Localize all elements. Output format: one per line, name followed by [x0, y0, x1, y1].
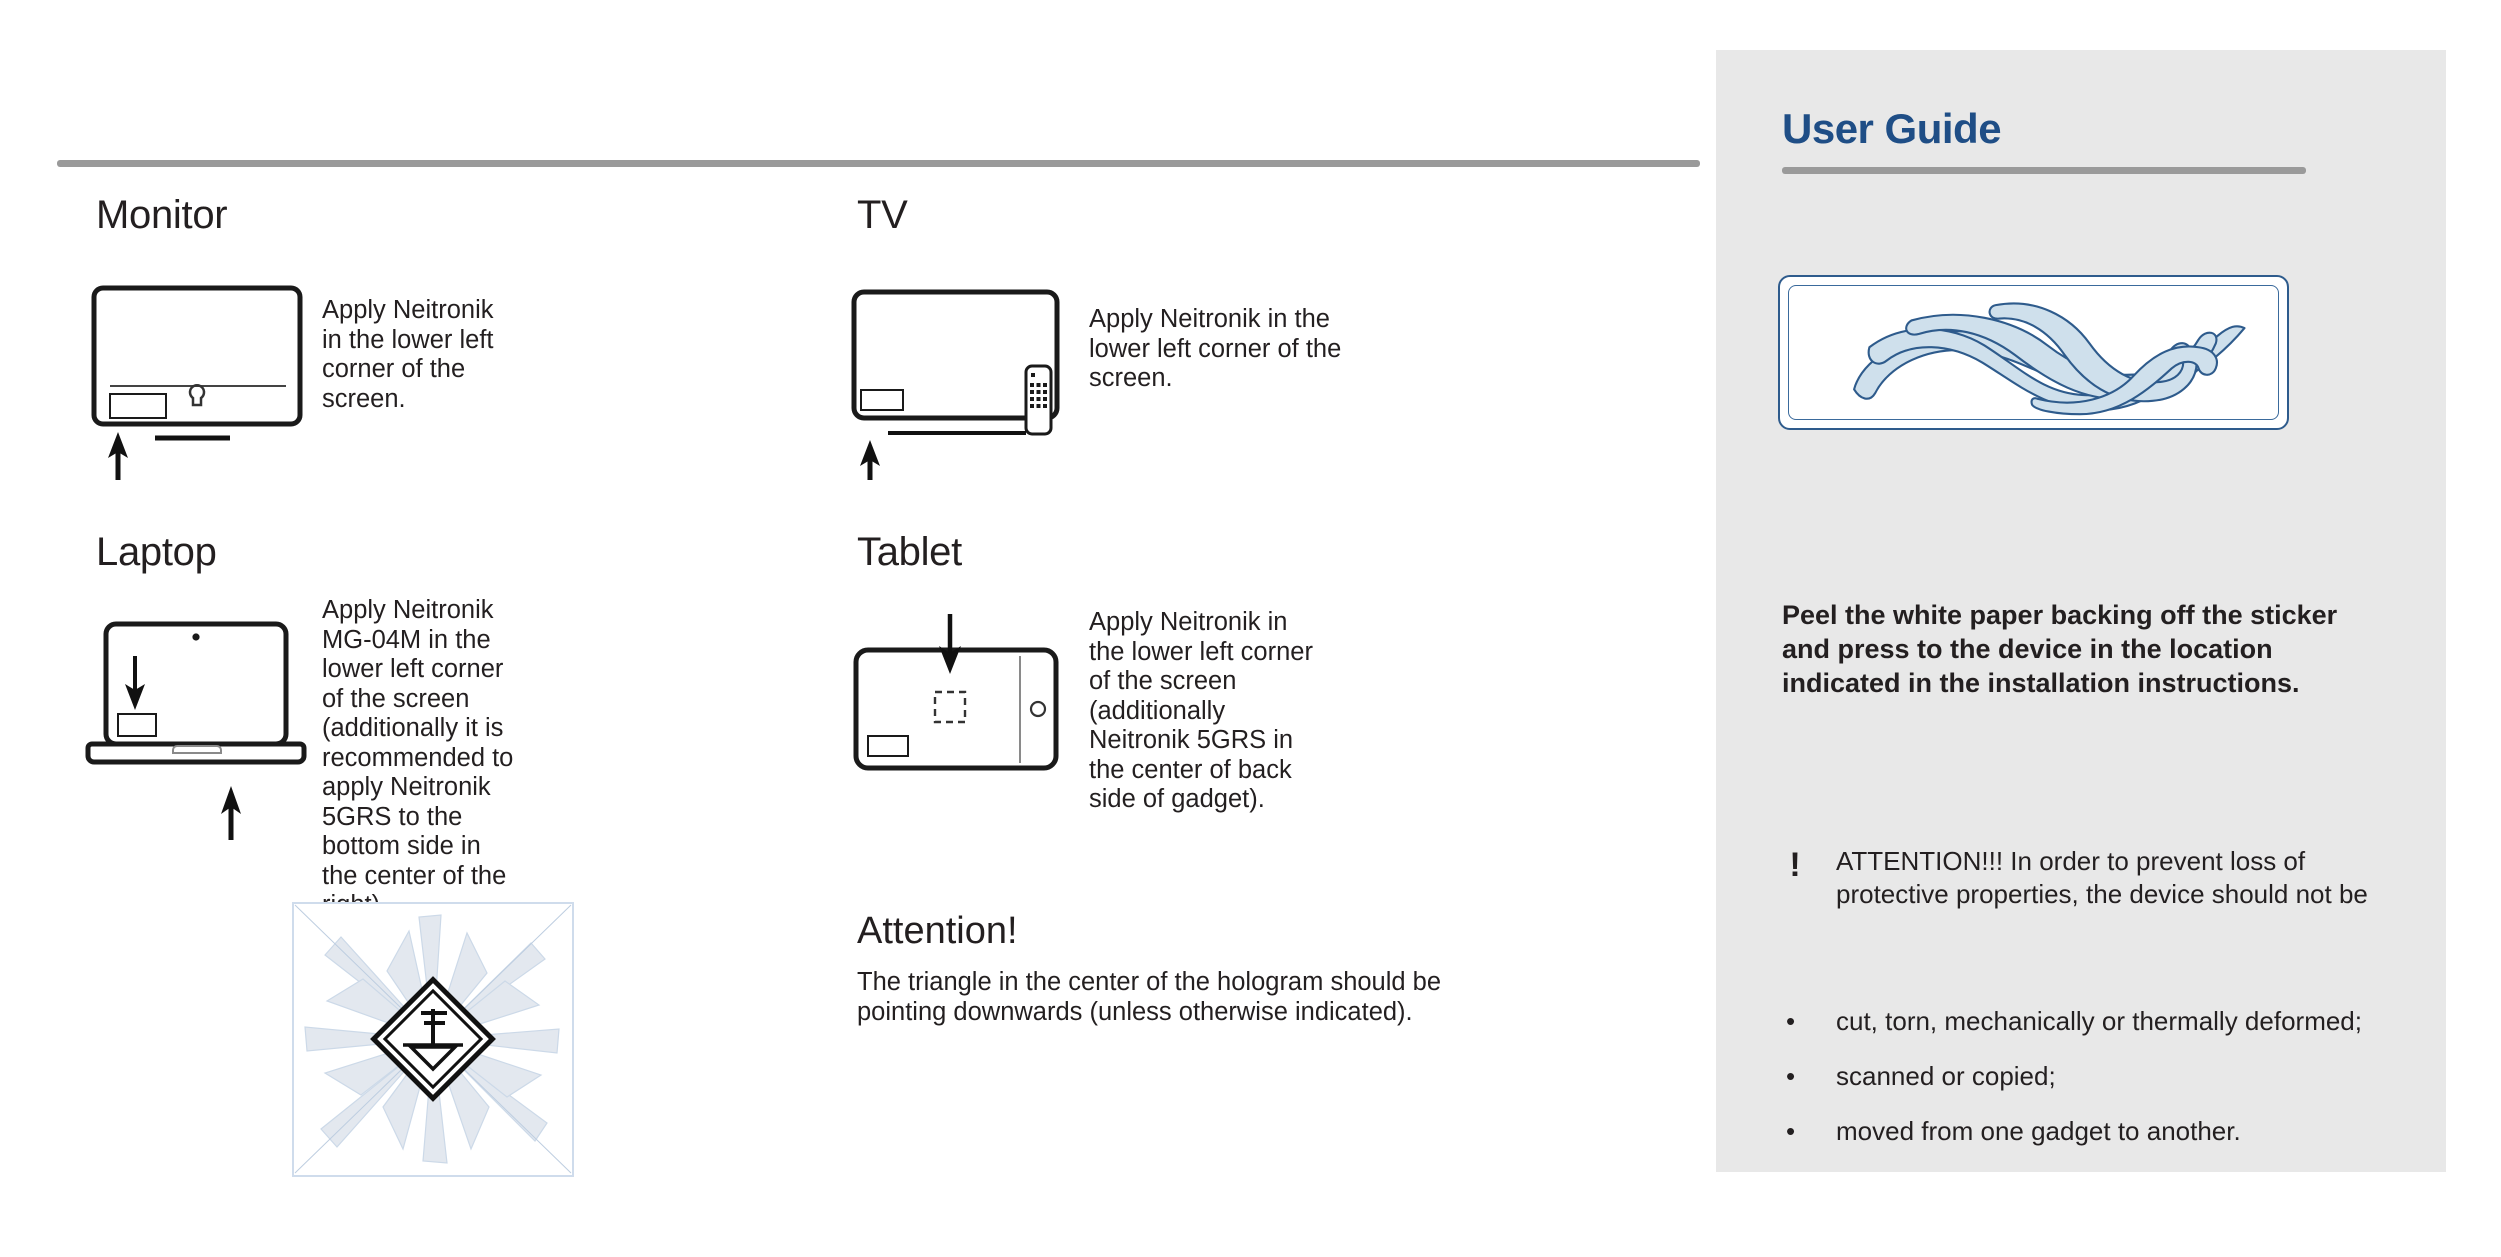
device-title-tv: TV: [857, 193, 908, 238]
list-item-label: moved from one gadget to another.: [1836, 1116, 2241, 1146]
attention-body-text: The triangle in the center of the hologr…: [857, 968, 1477, 1027]
bullet-icon: •: [1786, 1005, 1795, 1038]
device-title-tablet: Tablet: [857, 530, 962, 575]
list-item: • moved from one gadget to another.: [1778, 1115, 2398, 1148]
prohibited-actions-list: • cut, torn, mechanically or thermally d…: [1778, 1005, 2398, 1170]
laptop-illustration: [80, 618, 340, 848]
exclamation-icon: !: [1778, 847, 1812, 883]
sticker-preview-inner: [1788, 285, 2279, 420]
sidebar-lead-text: Peel the white paper backing off the sti…: [1782, 598, 2342, 700]
monitor-illustration: [80, 280, 310, 480]
instruction-panel: Monitor Apply Neitronik in the lower lef…: [0, 0, 1716, 1257]
list-item-label: scanned or copied;: [1836, 1061, 2056, 1091]
tv-illustration: [848, 280, 1098, 480]
bullet-icon: •: [1786, 1060, 1795, 1093]
sticker-preview-frame: [1778, 275, 2289, 430]
attention-heading: Attention!: [857, 910, 1018, 953]
device-title-laptop: Laptop: [96, 530, 217, 575]
device-title-monitor: Monitor: [96, 193, 227, 238]
sidebar-title: User Guide: [1782, 105, 2001, 153]
hologram-star-illustration: [291, 901, 575, 1178]
list-item: • cut, torn, mechanically or thermally d…: [1778, 1005, 2398, 1038]
top-divider-rule: [57, 160, 1700, 167]
sidebar-attention-warning-text: ATTENTION!!! In order to prevent loss of…: [1836, 845, 2376, 911]
instruction-text-tablet: Apply Neitronik in the lower left corner…: [1089, 608, 1324, 815]
bullet-icon: •: [1786, 1115, 1795, 1148]
user-guide-sidebar: User Guide Peel the white paper backing …: [1716, 50, 2446, 1172]
list-item-label: cut, torn, mechanically or thermally def…: [1836, 1006, 2362, 1036]
instruction-text-laptop: Apply Neitronik MG-04M in the lower left…: [322, 596, 522, 921]
sidebar-divider-rule: [1782, 167, 2306, 174]
tablet-illustration: [848, 608, 1078, 788]
celtic-knot-hologram-icon: [1789, 286, 2278, 419]
instruction-text-monitor: Apply Neitronik in the lower left corner…: [322, 296, 517, 414]
list-item: • scanned or copied;: [1778, 1060, 2398, 1093]
instruction-text-tv: Apply Neitronik in the lower left corner…: [1089, 305, 1359, 394]
